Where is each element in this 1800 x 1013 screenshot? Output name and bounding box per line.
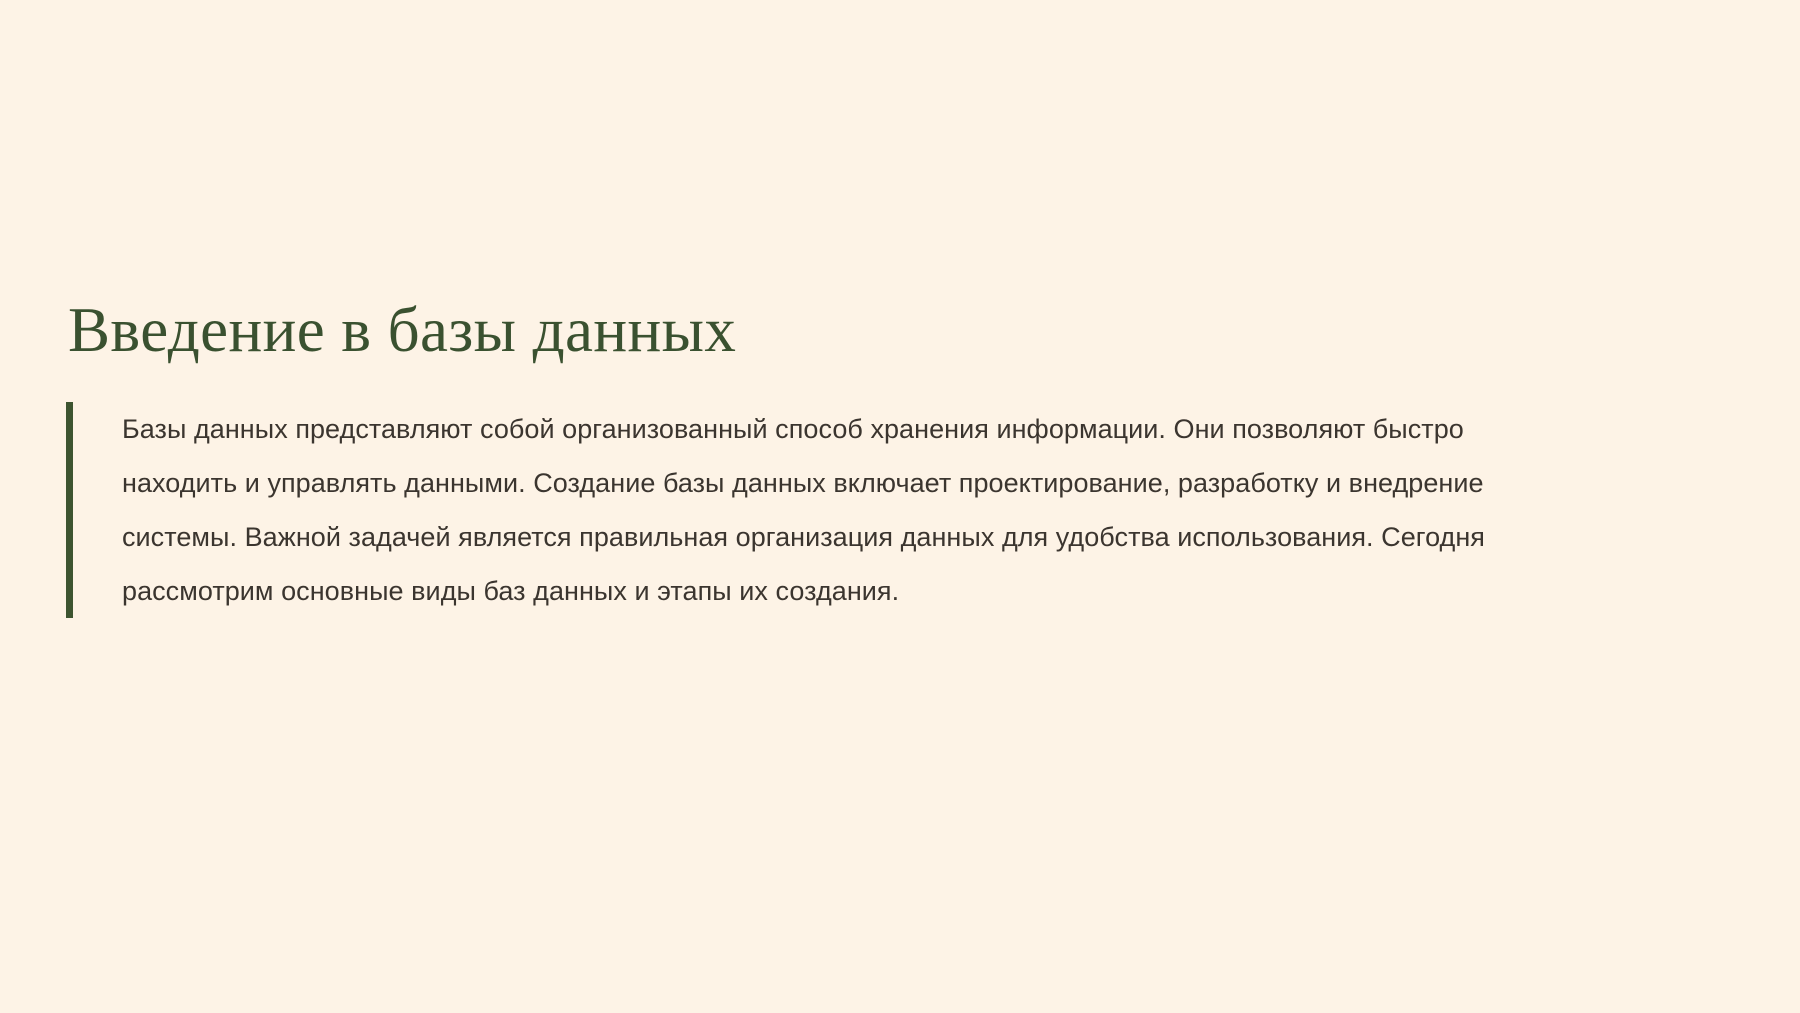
quote-block: Базы данных представляют собой организов… — [66, 402, 1542, 618]
body-paragraph: Базы данных представляют собой организов… — [122, 402, 1542, 618]
slide-canvas: Введение в базы данных Базы данных предс… — [0, 0, 1800, 1013]
page-title: Введение в базы данных — [68, 296, 1668, 364]
